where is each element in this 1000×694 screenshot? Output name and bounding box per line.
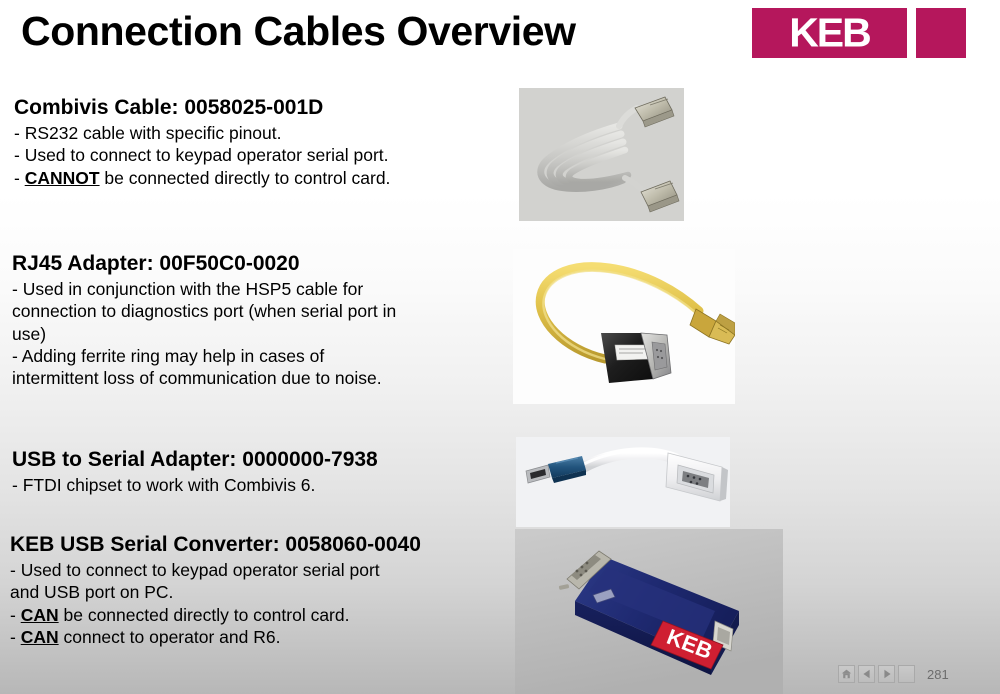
section-body: - Used to connect to keypad operator ser… [10, 559, 490, 648]
section-heading: KEB USB Serial Converter: 0058060-0040 [10, 532, 490, 558]
next-page-button[interactable] [878, 665, 895, 683]
keb-logo-text: KEB [752, 13, 907, 54]
previous-page-button[interactable] [858, 665, 875, 683]
body-line: - CAN connect to operator and R6. [10, 626, 490, 648]
previous-page-icon [862, 669, 872, 679]
body-line: - Adding ferrite ring may help in cases … [12, 345, 472, 367]
blank-nav-button[interactable] [898, 665, 915, 683]
section-body: - RS232 cable with specific pinout. - Us… [14, 122, 484, 189]
page-title: Connection Cables Overview [21, 9, 576, 54]
section-usb-to-serial-adapter: USB to Serial Adapter: 0000000-7938 - FT… [12, 447, 492, 496]
emphasis-can: CAN [21, 605, 59, 625]
section-keb-usb-serial-converter: KEB USB Serial Converter: 0058060-0040 -… [10, 532, 490, 648]
keb-logo: KEB [752, 8, 966, 58]
body-line: - FTDI chipset to work with Combivis 6. [12, 474, 492, 496]
keb-converter-illustration: KEB [515, 529, 783, 694]
section-combivis-cable: Combivis Cable: 0058025-001D - RS232 cab… [14, 95, 484, 189]
keb-usb-serial-converter-photo: KEB [515, 529, 783, 694]
section-heading: RJ45 Adapter: 00F50C0-0020 [12, 251, 472, 277]
body-line: connection to diagnostics port (when ser… [12, 300, 472, 322]
home-button[interactable] [838, 665, 855, 683]
combivis-cable-illustration [519, 88, 684, 221]
navigation-controls[interactable]: 281 [838, 665, 949, 683]
page-number: 281 [927, 667, 949, 682]
rj45-adapter-illustration [513, 249, 735, 404]
usb-to-serial-illustration [516, 437, 730, 527]
section-body: - Used in conjunction with the HSP5 cabl… [12, 278, 472, 389]
body-line: - Used in conjunction with the HSP5 cabl… [12, 278, 472, 300]
body-line: and USB port on PC. [10, 581, 490, 603]
combivis-cable-photo [519, 88, 684, 221]
next-page-icon [882, 669, 892, 679]
body-line: - Used to connect to keypad operator ser… [10, 559, 490, 581]
home-icon [841, 669, 852, 679]
body-line: - CAN be connected directly to control c… [10, 604, 490, 626]
section-rj45-adapter: RJ45 Adapter: 00F50C0-0020 - Used in con… [12, 251, 472, 389]
section-body: - FTDI chipset to work with Combivis 6. [12, 474, 492, 496]
section-heading: Combivis Cable: 0058025-001D [14, 95, 484, 121]
body-line: - RS232 cable with specific pinout. [14, 122, 484, 144]
usb-to-serial-adapter-photo [516, 437, 730, 527]
body-line: use) [12, 323, 472, 345]
section-heading: USB to Serial Adapter: 0000000-7938 [12, 447, 492, 473]
body-line: - Used to connect to keypad operator ser… [14, 144, 484, 166]
emphasis-cannot: CANNOT [25, 168, 100, 188]
rj45-adapter-photo [513, 249, 735, 404]
keb-logo-block: KEB [752, 8, 907, 58]
keb-logo-accent-square [916, 8, 966, 58]
emphasis-can: CAN [21, 627, 59, 647]
body-line: intermittent loss of communication due t… [12, 367, 472, 389]
slide-canvas: Connection Cables Overview KEB Combivis … [0, 0, 1000, 694]
body-line: - CANNOT be connected directly to contro… [14, 167, 484, 189]
